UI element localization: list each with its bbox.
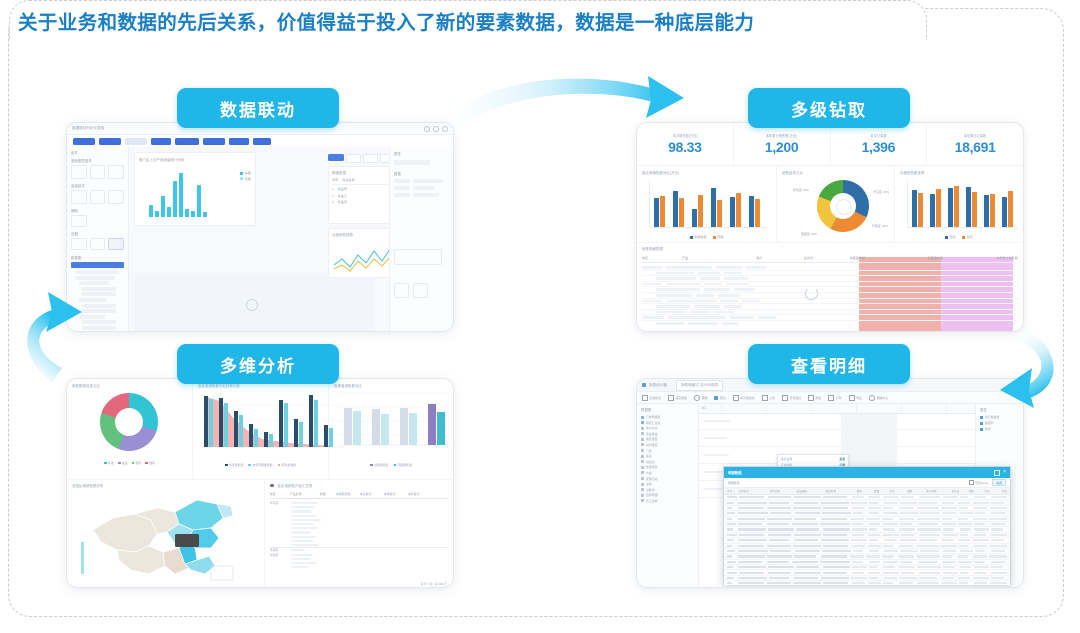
panel-multi-dim[interactable]: 销售额按品类占比 家电 食品 服饰 数码 各品类销售额与毛利率分析: [66, 378, 454, 588]
grid-row[interactable]: [724, 581, 1010, 585]
pivot-row[interactable]: [270, 565, 448, 569]
tree-item[interactable]: 员工绩效: [641, 499, 694, 503]
tree-item[interactable]: [79, 281, 109, 285]
grid-cell-text: [941, 545, 957, 547]
bar-prev: [755, 199, 760, 227]
grid-cell-text: [943, 512, 956, 514]
grid-cell: [794, 572, 821, 574]
tab[interactable]: [363, 154, 378, 163]
chart-region-category[interactable]: 销售额按品类占比 家电 食品 服饰 数码: [67, 379, 193, 479]
chart-region-channel[interactable]: 各渠道销售额对比 当期销售额 同期销售额: [329, 379, 453, 479]
toolbar-item-save[interactable]: 保存模板: [668, 395, 687, 401]
tree-item[interactable]: 门店: [641, 449, 694, 453]
badge-data-linkage[interactable]: 数据联动: [177, 88, 339, 128]
th: 同期销售额: [928, 256, 997, 260]
tree-item[interactable]: 促销活动: [641, 477, 694, 481]
grid-cell: [959, 507, 972, 509]
grid-cell: [989, 555, 1007, 557]
grid-cell: [822, 550, 851, 552]
toolbar-item-help[interactable]: 帮助中心: [869, 395, 888, 401]
grid-cell-text: [901, 534, 914, 536]
legend-swatch: [690, 236, 693, 239]
grid-cell: [727, 518, 736, 520]
table-row[interactable]: [642, 321, 1018, 326]
slide-canvas: 关于业务和数据的先后关系，价值得益于投入了新的要素数据，数据是一种底层能力: [0, 0, 1080, 633]
grid-cell-text: [883, 545, 893, 547]
tree-item[interactable]: [82, 309, 116, 313]
grid-cell-text: [739, 534, 764, 536]
grid-cell: [823, 528, 850, 530]
tree-item[interactable]: 退货: [641, 482, 694, 486]
legend-swatch: [240, 177, 243, 180]
toolbar-button-export[interactable]: [175, 138, 199, 146]
dataset-tree-pane[interactable]: 数据集 订单明细表 销售汇总表 客户信息 商品档案 地区维度 时间维度 门店 渠…: [637, 404, 699, 588]
tree-item[interactable]: 仓库库存: [641, 465, 694, 469]
chart-region-trend[interactable]: 月度销售额走势: [895, 166, 1023, 242]
grid-cell-text: [727, 572, 737, 574]
property-item[interactable]: 单元格属性: [980, 415, 1019, 419]
grid-cell: [974, 523, 988, 525]
grid-cell-text: [974, 534, 986, 536]
toolbar-item-print[interactable]: 打印: [828, 395, 841, 401]
grid-cell-text: [884, 539, 897, 541]
tree-item[interactable]: [79, 298, 107, 302]
grid-cell-text: [738, 566, 766, 568]
grid-cell: [974, 566, 989, 568]
grid-cell-text: [943, 572, 958, 574]
grid-cell: [823, 545, 850, 547]
legend-label: 同期: [717, 235, 723, 239]
grid-cell: [943, 512, 957, 514]
grid-cell-text: [883, 566, 895, 568]
table-cell: 3: [332, 200, 334, 204]
dataset-tree[interactable]: [71, 270, 124, 330]
grid-cell: [942, 561, 956, 563]
toolbar-button-refresh[interactable]: [203, 138, 225, 146]
grid-cell: [958, 577, 970, 579]
grid-cell-text: [991, 502, 1004, 504]
component-gauge-icon[interactable]: [90, 190, 106, 204]
component-pie-chart-icon[interactable]: [108, 165, 124, 179]
document-tab[interactable]: 销售明细-汇总分析报表: [676, 380, 723, 391]
grid-cell-text: [990, 582, 1007, 584]
grid-cell: [973, 555, 987, 557]
grid-cell-text: [869, 512, 879, 514]
grid-cell-text: [796, 528, 819, 530]
grid-cell: [917, 566, 941, 568]
grid-cell: [727, 545, 736, 547]
grid-cell-text: [852, 496, 864, 498]
grid-cell: [920, 550, 941, 552]
dialog-toolbar[interactable]: 明细数据 导出Excel 关闭: [724, 478, 1010, 488]
component-group-icon[interactable]: [108, 238, 124, 250]
grid-cell: [795, 550, 820, 552]
grid-cell-text: [866, 518, 880, 520]
badge-detail-view[interactable]: 查看明细: [748, 344, 910, 384]
table-header-cell: 序号: [332, 178, 338, 182]
grid-cell: [883, 582, 897, 584]
toolbar-button-link[interactable]: [99, 138, 121, 146]
grid-cell-text: [899, 582, 913, 584]
property-pane[interactable]: 属性 数据: [389, 147, 453, 331]
grid-cell: [973, 518, 987, 520]
grid-cell-text: [853, 550, 863, 552]
bar-prev: [717, 200, 722, 227]
grid-cell: [738, 566, 766, 568]
table-icon: [641, 421, 644, 424]
component-bar-chart-icon[interactable]: [71, 165, 87, 179]
table-header-row: 地区 产品 客户 业务员 本期销售额 同期销售额 本年累计销售额: [642, 256, 1018, 263]
grid-cell: [868, 545, 881, 547]
kpi-card[interactable]: 本年累计订单数 18,691: [927, 123, 1023, 165]
grid-cell: [900, 502, 917, 504]
th: 业务员: [804, 256, 850, 260]
component-tab-icon[interactable]: [71, 238, 87, 250]
th: 地区: [642, 256, 682, 260]
panel-detail-view[interactable]: 报表设计器 销售明细-汇总分析报表 新建报表 保存模板 撤销 预览 单元格格式 …: [636, 378, 1024, 588]
tree-item[interactable]: [82, 320, 116, 324]
grid-cell-text: [917, 566, 941, 568]
kpi-card[interactable]: 本月销售额(万元) 98.33: [637, 123, 734, 165]
legend-label: 数码: [149, 461, 155, 465]
grid-cell-text: [821, 502, 849, 504]
grid-cell: [883, 523, 898, 525]
grid-cell-text: [974, 507, 987, 509]
grid-cell-text: [899, 528, 915, 530]
chart-widget-bar[interactable]: 各门店上月产品销量统计分析: [134, 152, 256, 226]
dataset-tree-title: 数据集: [71, 255, 124, 260]
grid-cell: [899, 566, 915, 568]
property-field[interactable]: [394, 160, 430, 165]
grid-cell: [958, 523, 972, 525]
grid-cell: [823, 496, 850, 498]
grid-cell: [900, 523, 916, 525]
grid-cell: [959, 545, 972, 547]
user-icon[interactable]: [442, 126, 448, 132]
grid-cell: [868, 496, 881, 498]
grid-cell: [823, 534, 850, 536]
grid-cell-text: [943, 528, 954, 530]
tree-item[interactable]: [82, 326, 116, 330]
bar-actual: [990, 194, 995, 227]
toolbar-item-condition[interactable]: 条件属性: [782, 395, 801, 401]
pivot-region[interactable]: 各区域销售产品汇总表 地区 产品名称 数量 本期销售额 本月累计 本季累计 本年…: [265, 480, 453, 588]
grid-cell-text: [974, 561, 985, 563]
bar-actual: [972, 192, 977, 227]
grid-cell-text: [991, 572, 1007, 574]
grid-cell-text: [794, 577, 818, 579]
grid-cell: [852, 572, 866, 574]
th: 数量: [320, 492, 336, 496]
grid-cell: [727, 507, 736, 509]
tree-item[interactable]: 结算明细: [641, 493, 694, 497]
legend-swatch: [225, 464, 228, 467]
grid-cell: [883, 545, 897, 547]
tree-item[interactable]: 价格: [641, 471, 694, 475]
grid-cell-text: [900, 539, 917, 541]
grid-cell-text: [852, 545, 865, 547]
dialog-close-button[interactable]: 关闭: [992, 479, 1006, 487]
grid-cell: [991, 572, 1007, 574]
toolbar-item-new[interactable]: 新建报表: [642, 395, 661, 401]
detail-data-dialog[interactable]: 明细数据 × 明细数据 导出Excel 关闭 序号 订单编号 订单日期: [723, 466, 1011, 585]
grid-cell: [739, 534, 766, 536]
grid-cell-text: [869, 577, 878, 579]
donut-label: 华北区 23%: [793, 188, 809, 192]
toolbar-item-preview[interactable]: 预览: [714, 396, 725, 400]
map-region[interactable]: 全国区域销售额分布: [67, 480, 265, 588]
toolbar-button-drill[interactable]: [151, 138, 171, 146]
grid-cell-text: [738, 507, 764, 509]
grid-cell: [900, 577, 917, 579]
grid-cell: [899, 555, 915, 557]
maximize-icon[interactable]: [994, 470, 1000, 476]
property-item[interactable]: 样式: [980, 427, 1019, 431]
detail-grid-body[interactable]: [724, 495, 1010, 585]
grid-cell-text: [851, 577, 867, 579]
grid-cell: [919, 534, 941, 536]
grid-cell: [975, 512, 989, 514]
grid-cell: [767, 561, 790, 563]
grid-cell-text: [959, 582, 968, 584]
grid-cell: [899, 545, 915, 547]
grid-cell-text: [738, 512, 768, 514]
grid-cell: [852, 528, 867, 530]
grid-cell-text: [738, 577, 767, 579]
chart-title: 月度销售额走势: [900, 170, 1018, 175]
grid-cell: [853, 512, 867, 514]
badge-multi-drill[interactable]: 多级钻取: [748, 88, 910, 128]
donut-chart[interactable]: [817, 180, 869, 232]
map-region-west: [93, 514, 157, 552]
group-chart-svg: [338, 391, 450, 447]
china-map[interactable]: [79, 490, 255, 582]
toolbar-button-settings[interactable]: [229, 138, 249, 146]
tree-item[interactable]: 商品档案: [641, 432, 694, 436]
grid-cell: [821, 577, 849, 579]
th: 单价: [890, 489, 905, 493]
chart-region-combo[interactable]: 各品类销售额与毛利率分析: [193, 379, 329, 479]
toolbar-item-export[interactable]: 导出: [849, 395, 862, 401]
grid-cell-text: [882, 518, 893, 520]
bar-prev: [736, 193, 741, 227]
grid-cell-text: [727, 534, 737, 536]
grid-cell-text: [899, 518, 914, 520]
app-title: 报表设计器: [649, 383, 667, 388]
grid-cell-text: [869, 561, 880, 563]
grid-cell: [738, 507, 765, 509]
bar-actual: [936, 189, 941, 227]
grid-cell: [792, 561, 818, 563]
chart-region-sales[interactable]: 各区域销售额对比(万元): [637, 166, 777, 242]
property-icon-button[interactable]: [413, 283, 428, 298]
grid-cell-text: [991, 496, 1007, 498]
grid-cell-text: [942, 555, 952, 557]
grid-cell-text: [822, 512, 851, 514]
tab[interactable]: [346, 154, 361, 163]
tree-item[interactable]: 地区维度: [641, 437, 694, 441]
property-field-value[interactable]: [413, 186, 435, 190]
tree-item[interactable]: [82, 292, 116, 296]
grid-cell: [901, 572, 917, 574]
grid-cell: [794, 502, 819, 504]
grid-cell-text: [767, 582, 791, 584]
grid-cell-text: [901, 572, 914, 574]
grid-cell-text: [738, 550, 768, 552]
grid-cell-text: [960, 572, 968, 574]
chart-region-structure[interactable]: 销售结构占比 华北区 23% 华东区 32% 华南区 26% 西部区 19%: [777, 166, 895, 242]
chart-legend: 当月销售额 去年同期销售额 毛利率趋势: [193, 463, 328, 467]
grid-cell: [943, 528, 957, 530]
grid-cell: [958, 502, 970, 504]
grid-cell-text: [917, 582, 939, 584]
bar-target: [912, 190, 917, 227]
toolbar-item-chart[interactable]: 图表: [808, 395, 821, 401]
tree-item[interactable]: 客户信息: [641, 426, 694, 430]
loading-spinner: [805, 287, 818, 300]
legend-swatch: [370, 464, 373, 467]
designer-toolbar[interactable]: 新建报表 保存模板 撤销 预览 单元格格式 公式 条件属性 图表 打印 导出 帮…: [637, 392, 1023, 404]
property-item[interactable]: 数据列: [980, 421, 1019, 425]
tree-item[interactable]: [79, 315, 105, 319]
legend-label: 目标: [950, 235, 956, 239]
grid-cell-text: [727, 496, 737, 498]
grid-cell: [770, 550, 793, 552]
legend-swatch: [248, 464, 251, 467]
grid-cell: [883, 566, 897, 568]
badge-multi-dim[interactable]: 多维分析: [177, 344, 339, 384]
grid-cell-text: [991, 566, 1003, 568]
tree-item[interactable]: 时间维度: [641, 443, 694, 447]
component-panel-icon[interactable]: [90, 238, 106, 250]
tree-item[interactable]: [82, 304, 116, 308]
th: 本季累计: [384, 492, 408, 496]
grid-cell-text: [960, 566, 971, 568]
chart-title: 销售额按品类占比: [72, 383, 187, 388]
toolbar-item-formula[interactable]: 公式: [762, 395, 775, 401]
component-text-icon[interactable]: [71, 215, 87, 227]
component-pane[interactable]: 组件 基础图表组件 高级组件 辅助 容器 数据集: [67, 147, 129, 331]
bar-current: [673, 191, 678, 227]
property-preview-box[interactable]: [394, 249, 442, 265]
toolbar-item-cell-format[interactable]: 单元格格式: [733, 395, 755, 401]
toolbar-item-undo[interactable]: 撤销: [694, 395, 707, 401]
chart-widget-title: 各门店上月产品销量统计分析: [139, 157, 251, 162]
grid-cell-text: [973, 555, 987, 557]
close-icon[interactable]: ×: [1003, 470, 1006, 475]
toolbar-button-jump[interactable]: [125, 138, 147, 146]
grid-cell: [883, 496, 899, 498]
grid-cell: [973, 577, 989, 579]
grid-cell: [868, 507, 881, 509]
grid-cell-text: [942, 539, 954, 541]
tree-item[interactable]: 订单明细表: [641, 415, 694, 419]
toolbar-button-more[interactable]: [253, 138, 271, 146]
drill-table[interactable]: 销售明细数据 地区 产品 客户 业务员 本期销售额 同期销售额 本年累计销售额: [637, 243, 1023, 332]
grid-cell-text: [989, 518, 1007, 520]
table-body[interactable]: [642, 265, 1018, 326]
grid-cell-text: [991, 539, 1004, 541]
help-icon[interactable]: [424, 126, 430, 132]
tree-item[interactable]: 销售汇总表: [641, 421, 694, 425]
grid-cell-text: [973, 518, 987, 520]
grid-cell: [738, 550, 768, 552]
property-field-value[interactable]: [413, 179, 443, 183]
grid-cell-text: [738, 502, 767, 504]
grid-cell-text: [884, 550, 898, 552]
toolbar-button-filter[interactable]: [73, 138, 95, 146]
tree-item[interactable]: 供应商: [641, 460, 694, 464]
bar-prev: [660, 196, 665, 227]
grid-cell-text: [768, 496, 791, 498]
component-map-icon[interactable]: [71, 190, 87, 204]
tree-item[interactable]: [82, 287, 116, 291]
grid-cell-text: [767, 518, 792, 520]
grid-cell-text: [958, 561, 972, 563]
grid-cell: [974, 545, 988, 547]
tree-item[interactable]: [75, 276, 115, 280]
grid-cell: [884, 539, 898, 541]
property-pane-title: 属性: [980, 407, 1019, 412]
document-tab-label: 销售明细-汇总分析报表: [681, 383, 718, 388]
grid-cell-text: [820, 561, 850, 563]
property-field-label: [394, 193, 410, 197]
th: 客户: [756, 256, 804, 260]
property-field-value[interactable]: [413, 193, 439, 197]
grid-cell: [974, 534, 988, 536]
grid-cell: [727, 555, 736, 557]
component-table-icon[interactable]: [108, 190, 124, 204]
kpi-card[interactable]: 本年累计销售额(万元) 1,200: [734, 123, 831, 165]
tree-item[interactable]: 对账单: [641, 488, 694, 492]
panel-multi-drill[interactable]: 本月销售额(万元) 98.33 本年累计销售额(万元) 1,200 本月订单数 …: [636, 122, 1024, 332]
dialog-export-button[interactable]: 导出Excel: [969, 480, 989, 485]
grid-cell: [796, 566, 821, 568]
grid-cell-text: [768, 566, 794, 568]
grid-cell-text: [960, 528, 971, 530]
grid-cell-text: [974, 528, 989, 530]
grid-cell: [769, 577, 792, 579]
component-line-chart-icon[interactable]: [90, 165, 106, 179]
th: 产品: [682, 256, 756, 260]
grid-cell-text: [821, 539, 849, 541]
legend-label: 同期销售额: [397, 463, 412, 467]
tree-item[interactable]: [75, 270, 119, 274]
grid-cell: [868, 582, 881, 584]
grid-cell-text: [727, 545, 732, 547]
grid-cell: [990, 507, 1007, 509]
tab-active[interactable]: [328, 154, 344, 161]
grid-cell-text: [989, 555, 1007, 557]
tree-item[interactable]: 渠道: [641, 454, 694, 458]
grid-cell: [767, 545, 791, 547]
kpi-card[interactable]: 本月订单数 1,396: [831, 123, 928, 165]
grid-cell-text: [991, 561, 1006, 563]
pivot-body[interactable]: 华东区 华南区: [270, 501, 448, 569]
settings-icon[interactable]: [433, 126, 439, 132]
property-icon-button[interactable]: [394, 283, 409, 298]
grid-cell-text: [767, 545, 791, 547]
grid-cell-text: [869, 550, 879, 552]
donut-chart[interactable]: [100, 393, 158, 451]
panel-data-linkage[interactable]: 数据联动分析仪表板 组件 基础图表组件 高级组件: [66, 122, 454, 332]
grid-cell: [738, 582, 765, 584]
grid-cell-text: [822, 550, 851, 552]
grid-cell: [727, 566, 736, 568]
tree-item-selected[interactable]: [71, 262, 124, 268]
grid-cell-text: [727, 528, 733, 530]
grid-cell-text: [851, 539, 867, 541]
